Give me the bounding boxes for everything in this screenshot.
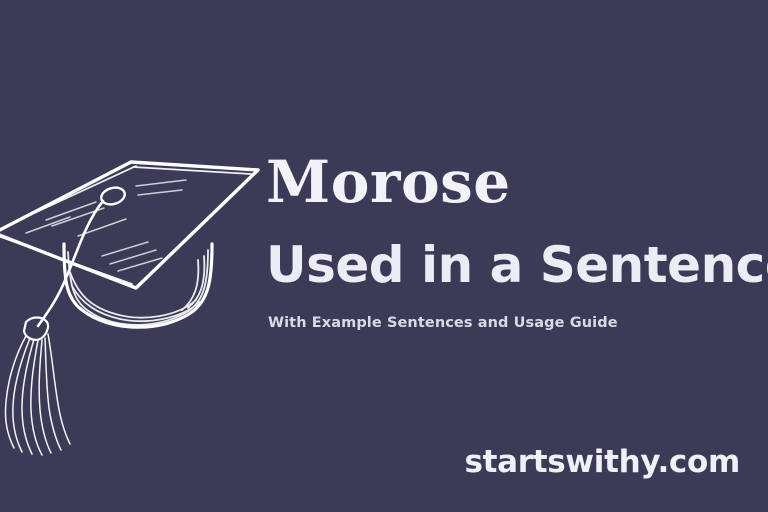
page-tagline: With Example Sentences and Usage Guide <box>268 315 766 331</box>
page-headline: Used in a Sentence <box>266 239 766 292</box>
page-title-word: Morose <box>266 152 766 213</box>
banner-text-block: Morose Used in a Sentence With Example S… <box>266 152 766 331</box>
mortarboard-sketch-lines <box>0 166 254 285</box>
mortarboard-hatching <box>26 180 186 271</box>
site-brand-label: startswithy.com <box>464 444 740 480</box>
mortarboard-plate <box>0 162 258 288</box>
mortarboard-button-icon <box>99 185 126 207</box>
tassel-strands <box>5 334 70 455</box>
graduation-cap-icon <box>0 140 276 370</box>
word-definition-banner: Morose Used in a Sentence With Example S… <box>0 0 768 512</box>
tassel-knot <box>24 318 48 340</box>
